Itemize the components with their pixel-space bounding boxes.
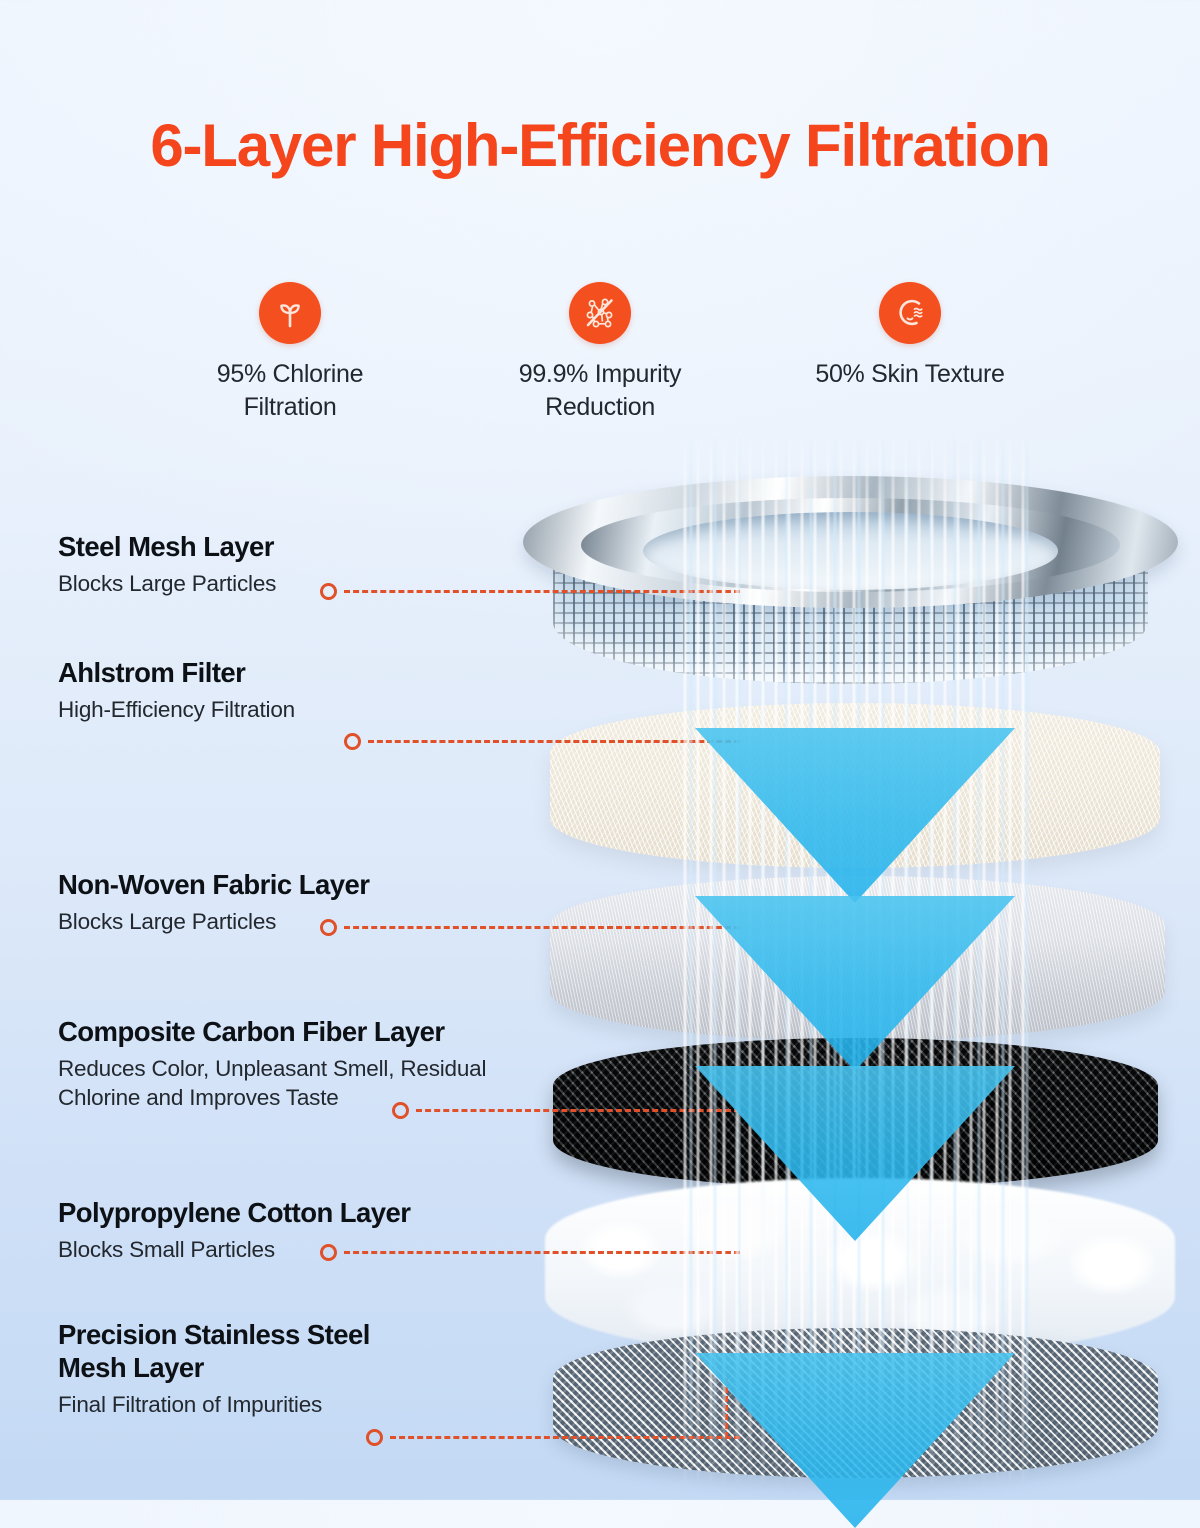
connector-ring xyxy=(344,733,361,750)
feature-label: 99.9% Impurity Reduction xyxy=(480,358,720,424)
sprout-icon xyxy=(272,295,308,331)
no-molecule-icon xyxy=(581,294,619,332)
layer-title: Composite Carbon Fiber Layer xyxy=(58,1015,603,1048)
layer-description: Reduces Color, Unpleasant Smell, Residua… xyxy=(58,1054,603,1113)
layer-title: Non-Woven Fabric Layer xyxy=(58,868,558,901)
sprout-icon-badge xyxy=(259,282,321,344)
skin-hydration-icon xyxy=(892,295,928,331)
layer-description: Blocks Small Particles xyxy=(58,1235,578,1264)
callout-polypropylene-cotton-layer: Polypropylene Cotton Layer Blocks Small … xyxy=(58,1196,578,1264)
infographic-canvas: 6-Layer High-Efficiency Filtration 95% C… xyxy=(0,0,1200,1500)
callout-non-woven-fabric-layer: Non-Woven Fabric Layer Blocks Large Part… xyxy=(58,868,558,936)
feature-impurity-reduction: 99.9% Impurity Reduction xyxy=(460,282,740,424)
feature-label: 95% Chlorine Filtration xyxy=(170,358,410,424)
connector-ring xyxy=(366,1429,383,1446)
layer-title: Ahlstrom Filter xyxy=(58,656,498,689)
feature-chlorine-filtration: 95% Chlorine Filtration xyxy=(150,282,430,424)
no-molecule-icon-badge xyxy=(569,282,631,344)
layer-description: Final Filtration of Impurities xyxy=(58,1390,578,1419)
layer-title: Precision Stainless Steel Mesh Layer xyxy=(58,1318,578,1384)
layer-description: High-Efficiency Filtration xyxy=(58,695,498,724)
layer-title: Polypropylene Cotton Layer xyxy=(58,1196,578,1229)
callout-composite-carbon-fiber-layer: Composite Carbon Fiber Layer Reduces Col… xyxy=(58,1015,603,1113)
feature-skin-texture: 50% Skin Texture xyxy=(770,282,1050,424)
page-title: 6-Layer High-Efficiency Filtration xyxy=(0,112,1200,179)
feature-label: 50% Skin Texture xyxy=(815,358,1004,391)
skin-hydration-icon-badge xyxy=(879,282,941,344)
filter-layers-illustration xyxy=(505,448,1195,1493)
callout-steel-mesh-layer: Steel Mesh Layer Blocks Large Particles xyxy=(58,530,478,598)
layer-title: Steel Mesh Layer xyxy=(58,530,478,563)
feature-stats-row: 95% Chlorine Filtration xyxy=(150,282,1050,424)
callout-ahlstrom-filter: Ahlstrom Filter High-Efficiency Filtrati… xyxy=(58,656,498,724)
layer-description: Blocks Large Particles xyxy=(58,569,478,598)
layer-description: Blocks Large Particles xyxy=(58,907,558,936)
callout-precision-stainless-steel-mesh-layer: Precision Stainless Steel Mesh Layer Fin… xyxy=(58,1318,578,1419)
